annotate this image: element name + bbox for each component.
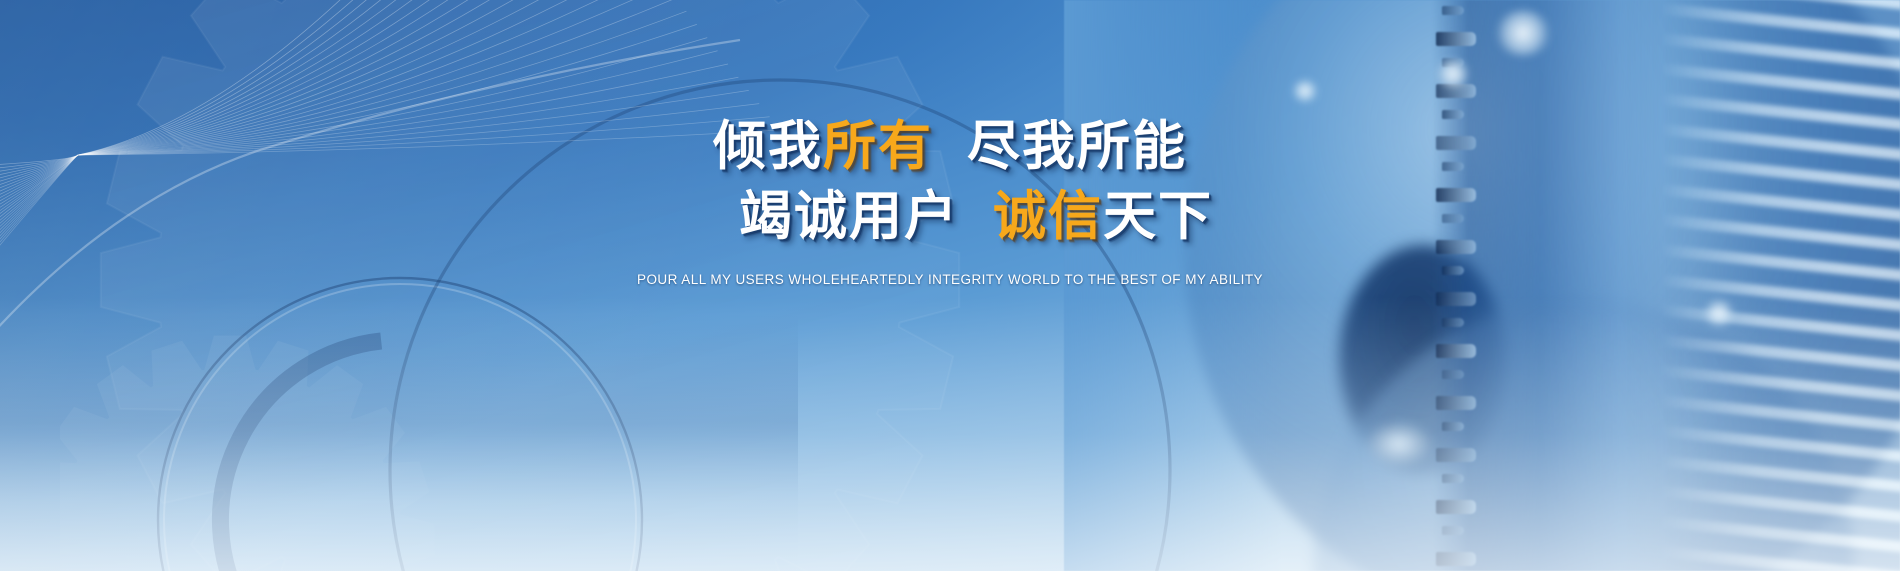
hero-banner: 倾我所有尽我所能 竭诚用户诚信天下 POUR ALL MY USERS WHOL… xyxy=(0,0,1900,571)
banner-subtitle: POUR ALL MY USERS WHOLEHEARTEDLY INTEGRI… xyxy=(0,272,1900,287)
